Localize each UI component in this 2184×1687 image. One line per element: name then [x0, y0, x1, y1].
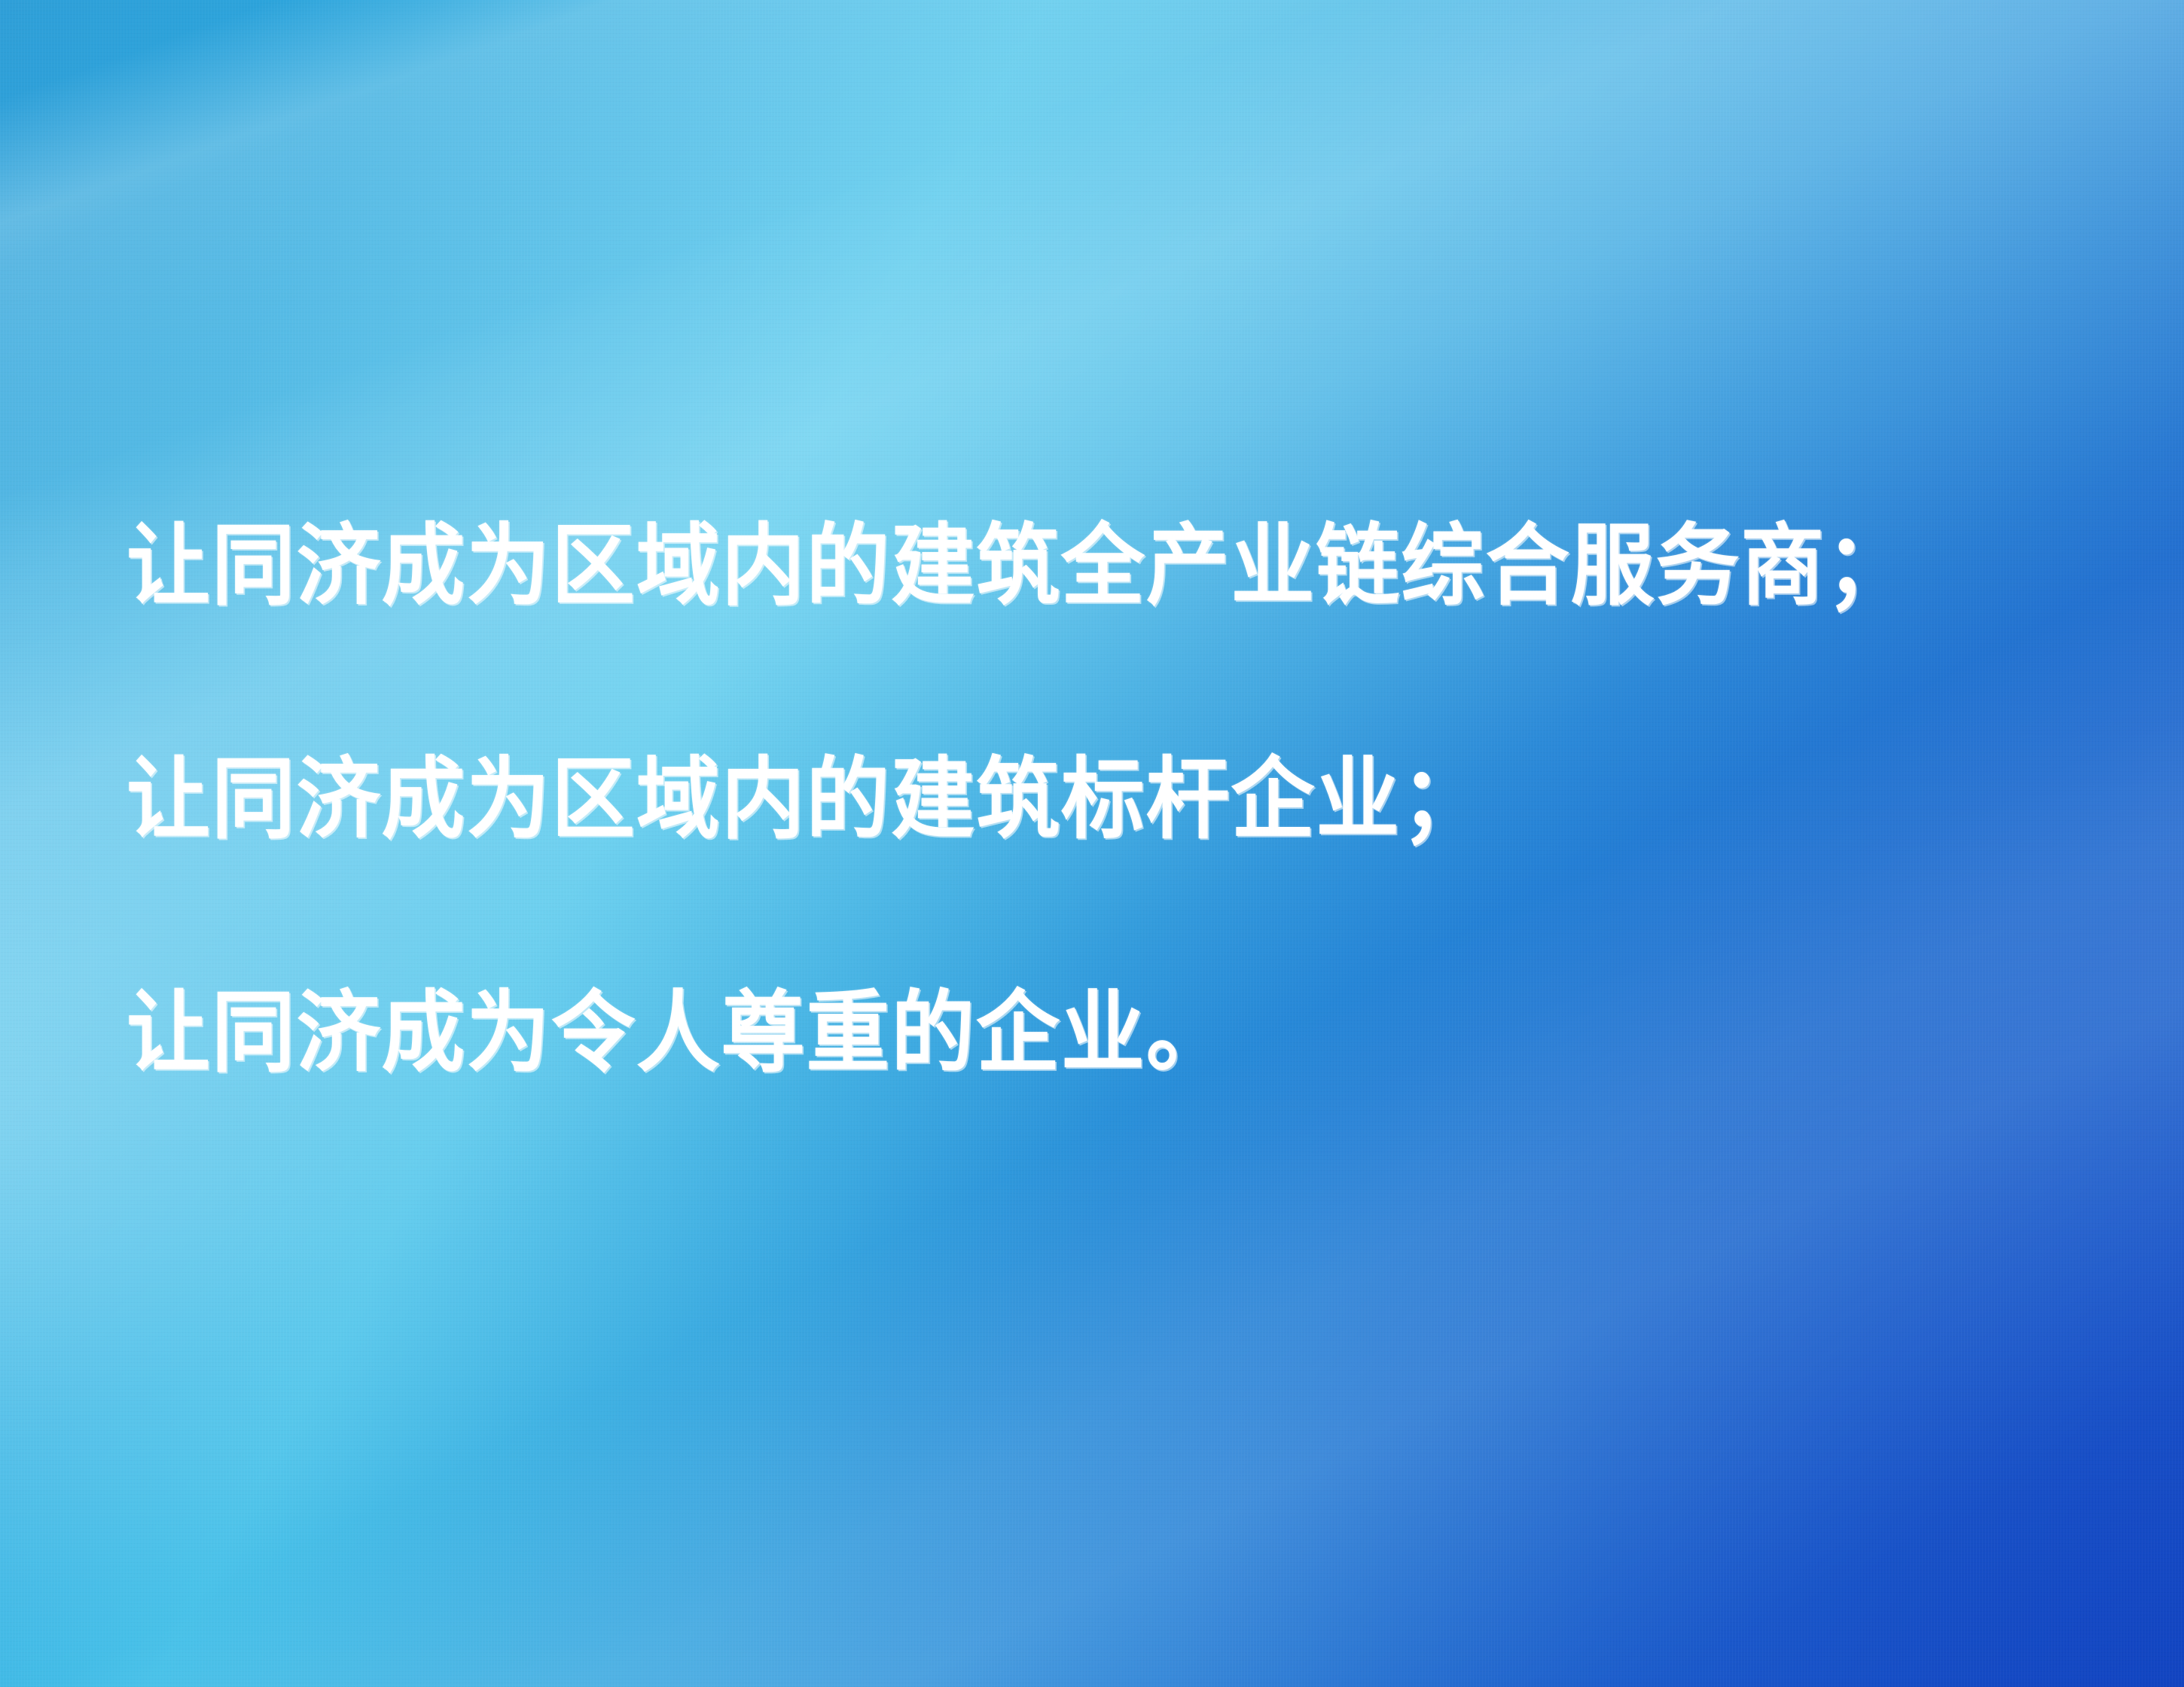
- slogan-text-block: 让同济成为区域内的建筑全产业链综合服务商； 让同济成为区域内的建筑标杆企业； 让…: [127, 449, 2085, 1149]
- slogan-line-3: 让同济成为令人尊重的企业。: [127, 916, 1967, 1149]
- presentation-slide: 让同济成为区域内的建筑全产业链综合服务商； 让同济成为区域内的建筑标杆企业； 让…: [0, 0, 2184, 1687]
- slogan-line-1: 让同济成为区域内的建筑全产业链综合服务商；: [127, 449, 1967, 682]
- slogan-line-2: 让同济成为区域内的建筑标杆企业；: [127, 682, 1967, 916]
